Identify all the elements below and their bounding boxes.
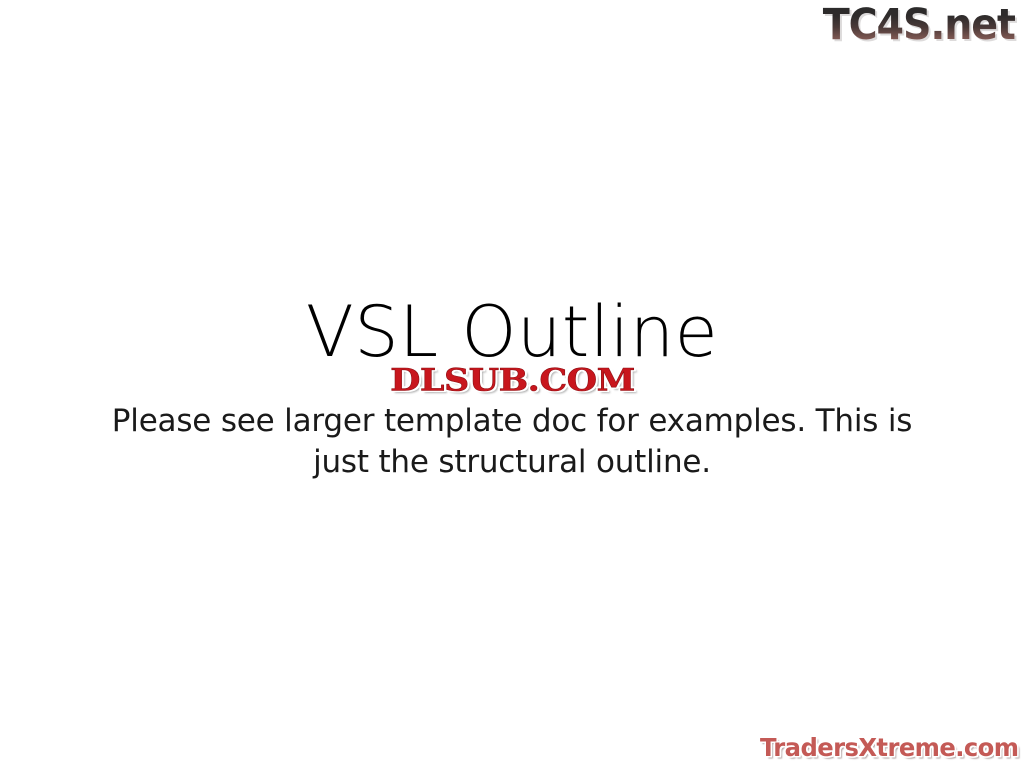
- footer-watermark-tradersxtreme: TradersXtreme.com: [760, 734, 1018, 762]
- presentation-slide: TC4S.net TC4S.net VSL Outline Please see…: [0, 0, 1024, 768]
- slide-subtitle: Please see larger template doc for examp…: [92, 401, 932, 483]
- slide-title: VSL Outline: [0, 291, 1024, 373]
- slide-content-area: VSL Outline Please see larger template d…: [0, 0, 1024, 768]
